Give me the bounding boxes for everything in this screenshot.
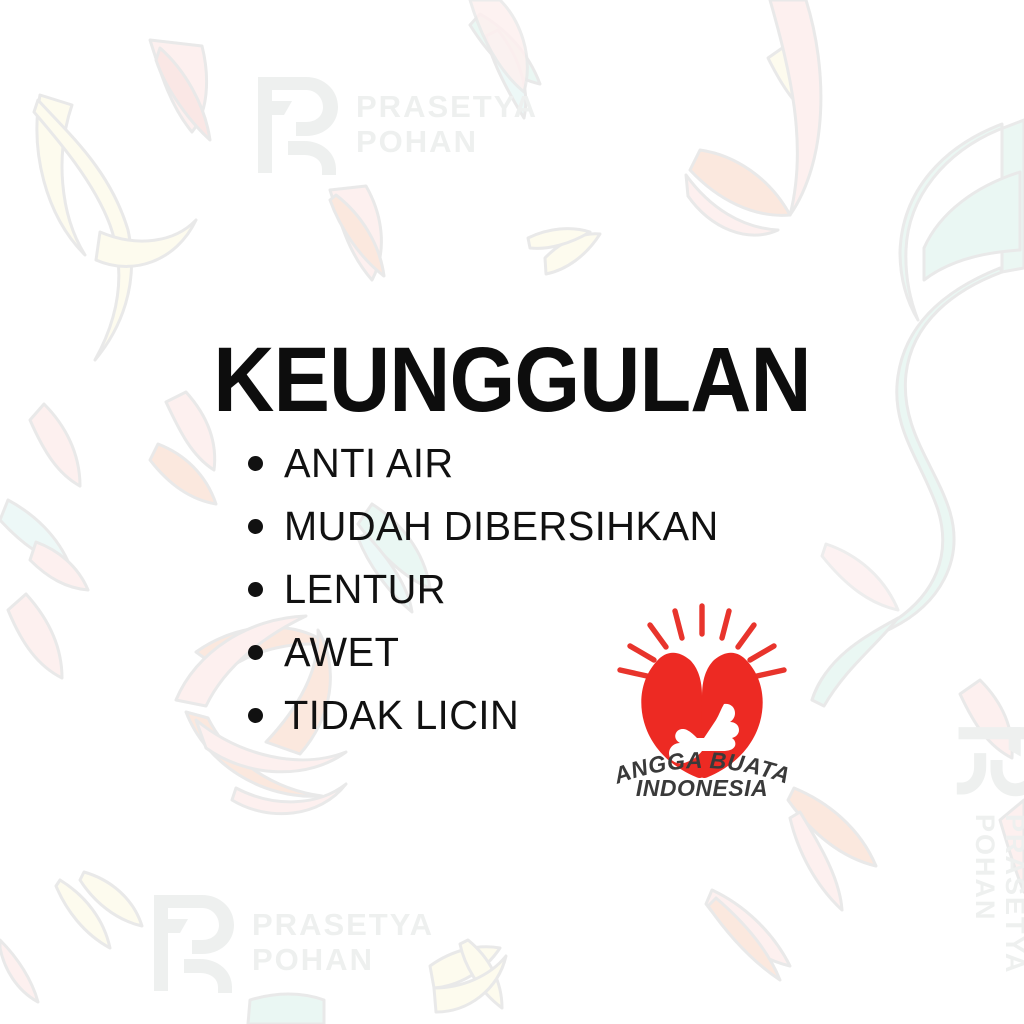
feature-label: ANTI AIR <box>284 440 454 487</box>
watermark-line2: POHAN <box>970 814 1000 975</box>
logo-text-line2: INDONESIA <box>636 775 768 800</box>
watermark-right-rotated: PRASETYA POHAN <box>956 722 1024 975</box>
sparkle-rays-icon <box>620 606 784 676</box>
list-item: MUDAH DIBERSIHKAN <box>248 495 732 558</box>
poster-canvas: PRASETYA POHAN PRASETYA POHAN PRAS <box>0 0 1024 1024</box>
bullet-icon <box>248 456 263 471</box>
watermark-text: PRASETYA POHAN <box>252 908 434 977</box>
prasetya-pohan-monogram-icon <box>956 722 1024 798</box>
watermark-top-left: PRASETYA POHAN <box>252 75 538 175</box>
feature-label: TIDAK LICIN <box>284 692 519 739</box>
bullet-icon <box>248 519 263 534</box>
watermark-line1: PRASETYA <box>1000 814 1024 975</box>
page-title: KEUNGGULAN <box>41 334 983 426</box>
watermark-line2: POHAN <box>356 125 538 160</box>
watermark-line1: PRASETYA <box>356 90 538 125</box>
feature-label: LENTUR <box>284 566 446 613</box>
prasetya-pohan-monogram-icon <box>148 893 236 993</box>
feature-label: MUDAH DIBERSIHKAN <box>284 503 719 550</box>
watermark-text: PRASETYA POHAN <box>356 90 538 159</box>
bullet-icon <box>248 582 263 597</box>
bullet-icon <box>248 645 263 660</box>
bullet-icon <box>248 708 263 723</box>
watermark-line2: POHAN <box>252 943 434 978</box>
watermark-line1: PRASETYA <box>252 908 434 943</box>
prasetya-pohan-monogram-icon <box>252 75 340 175</box>
list-item: ANTI AIR <box>248 432 732 495</box>
watermark-text: PRASETYA POHAN <box>970 814 1024 975</box>
feature-label: AWET <box>284 629 399 676</box>
watermark-bottom-left: PRASETYA POHAN <box>148 893 434 993</box>
bangga-buatan-indonesia-logo: BANGGA BUATAN INDONESIA <box>598 600 806 800</box>
